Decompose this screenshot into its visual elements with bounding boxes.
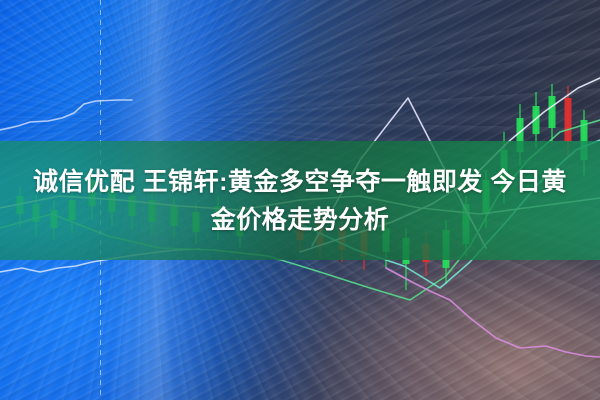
page-title: 诚信优配 王锦轩:黄金多空争夺一触即发 今日黄 金价格走势分析 xyxy=(0,141,600,260)
promo-banner: 诚信优配 王锦轩:黄金多空争夺一触即发 今日黄 金价格走势分析 xyxy=(0,0,600,400)
headline-line-1: 诚信优配 王锦轩:黄金多空争夺一触即发 今日黄 xyxy=(33,165,567,199)
headline-line-2: 金价格走势分析 xyxy=(211,203,390,237)
